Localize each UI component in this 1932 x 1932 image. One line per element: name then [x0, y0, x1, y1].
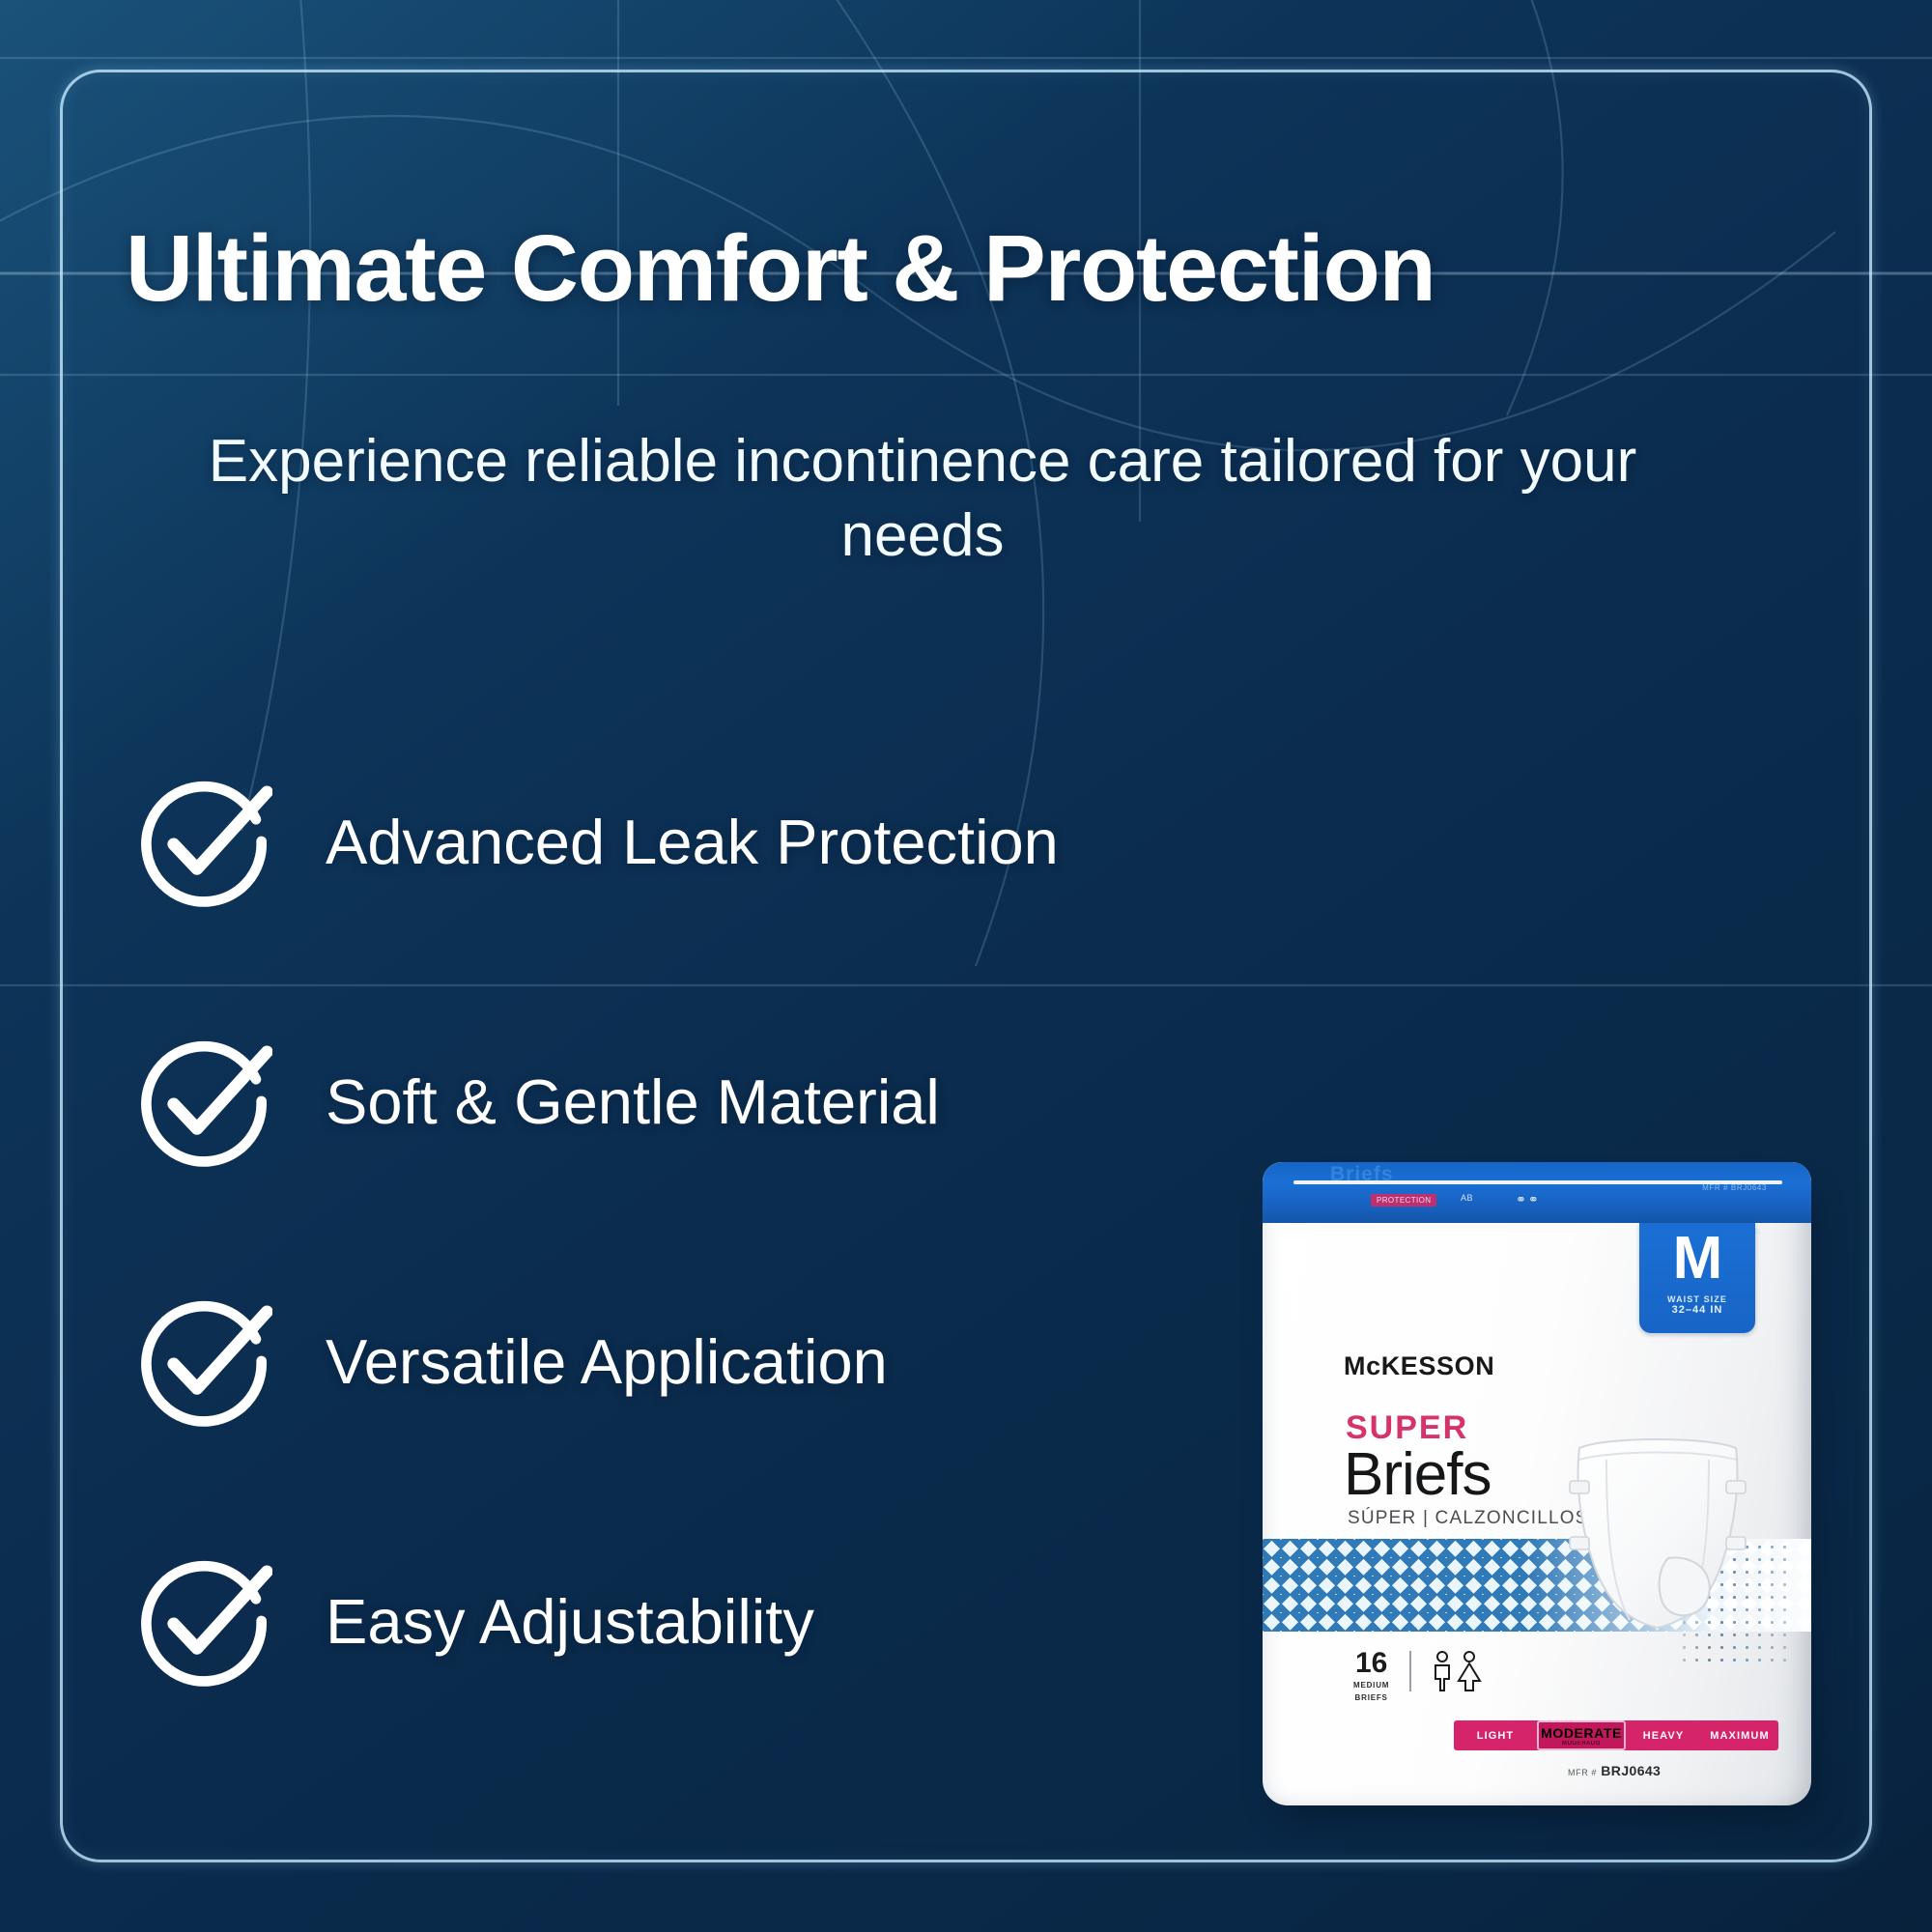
check-circle-icon [135, 773, 272, 910]
absorbency-selected-label: MODERATE [1541, 1725, 1622, 1741]
list-item: Versatile Application [135, 1293, 1217, 1430]
package-top-mini-text: AB [1461, 1193, 1473, 1203]
absorbency-level-light: LIGHT [1454, 1730, 1537, 1742]
brief-product-illustration [1547, 1431, 1769, 1653]
brand-name: McKESSON [1344, 1351, 1494, 1381]
count-block: 16 MEDIUM BRIEFS [1353, 1649, 1389, 1703]
package-body: Briefs PROTECTION AB ⚭⚭ MFR # BRJ0643 SI… [1263, 1162, 1811, 1805]
package-top-band: Briefs PROTECTION AB ⚭⚭ MFR # BRJ0643 [1263, 1162, 1811, 1223]
absorbency-selected-sublabel: MODERADO [1562, 1741, 1601, 1747]
list-item: Soft & Gentle Material [135, 1033, 1217, 1170]
size-letter: M [1639, 1229, 1755, 1289]
size-tab: M WAIST SIZE 32–44 IN [1639, 1223, 1755, 1333]
count-label-line1: MEDIUM [1353, 1681, 1389, 1690]
mfr-prefix: MFR # [1568, 1768, 1597, 1777]
count-number: 16 [1353, 1649, 1389, 1678]
check-circle-icon [135, 1552, 272, 1690]
gender-icons-small: ⚭⚭ [1516, 1192, 1541, 1207]
feature-list: Advanced Leak Protection Soft & Gentle M… [135, 773, 1217, 1690]
list-item-label: Soft & Gentle Material [326, 1065, 940, 1138]
list-item-label: Versatile Application [326, 1325, 888, 1398]
waist-size-value: 32–44 IN [1639, 1304, 1755, 1316]
package-top-tag: PROTECTION [1371, 1194, 1436, 1207]
list-item: Easy Adjustability [135, 1552, 1217, 1690]
package-top-right-text: MFR # BRJ0643 [1702, 1183, 1767, 1192]
mfr-number-row: MFR # BRJ0643 [1568, 1763, 1661, 1778]
absorbency-bar: LIGHT MODERATE MODERADO HEAVY MAXIMUM [1454, 1720, 1778, 1750]
page-title: Ultimate Comfort & Protection [126, 220, 1855, 318]
list-item-label: Advanced Leak Protection [326, 806, 1059, 878]
gender-icons [1429, 1650, 1487, 1694]
mfr-number: BRJ0643 [1601, 1763, 1661, 1778]
absorbency-level-maximum: MAXIMUM [1701, 1730, 1778, 1742]
list-item-label: Easy Adjustability [326, 1585, 814, 1658]
absorbency-level-heavy: HEAVY [1626, 1730, 1701, 1742]
check-circle-icon [135, 1293, 272, 1430]
check-circle-icon [135, 1033, 272, 1170]
product-package-image: Briefs PROTECTION AB ⚭⚭ MFR # BRJ0643 SI… [1263, 1162, 1823, 1819]
waist-size-label: WAIST SIZE [1639, 1294, 1755, 1304]
page-subtitle: Experience reliable incontinence care ta… [126, 425, 1719, 574]
product-name: Briefs [1344, 1440, 1491, 1509]
absorbency-level-moderate-selected: MODERATE MODERADO [1537, 1720, 1626, 1750]
list-item: Advanced Leak Protection [135, 773, 1217, 910]
count-divider [1409, 1651, 1411, 1691]
count-label-line2: BRIEFS [1353, 1693, 1389, 1703]
